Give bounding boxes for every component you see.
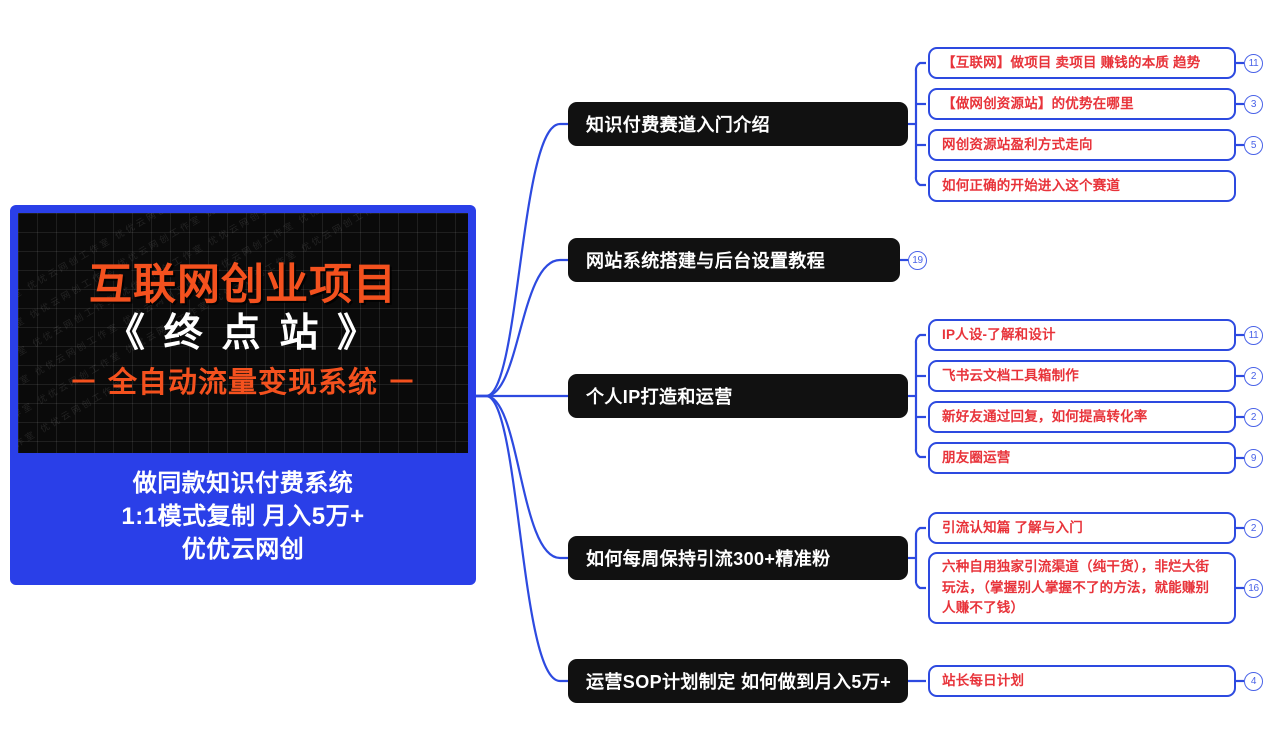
leaf-node[interactable]: 网创资源站盈利方式走向	[928, 129, 1236, 161]
branch-node-sop[interactable]: 运营SOP计划制定 如何做到月入5万+	[568, 659, 908, 703]
root-caption: 做同款知识付费系统 1:1模式复制 月入5万+ 优优云网创	[18, 453, 468, 566]
leaf-node[interactable]: 飞书云文档工具箱制作	[928, 360, 1236, 392]
poster-tagline: － 全自动流量变现系统 －	[69, 363, 417, 404]
root-caption-line-3: 优优云网创	[18, 533, 468, 566]
leaf-badge: 4	[1244, 672, 1263, 691]
root-caption-line-2: 1:1模式复制 月入5万+	[18, 500, 468, 533]
poster-title: 互联网创业项目	[89, 263, 397, 308]
leaf-node[interactable]: 站长每日计划	[928, 665, 1236, 697]
leaf-badge: 3	[1244, 95, 1263, 114]
leaf-node[interactable]: 新好友通过回复，如何提高转化率	[928, 401, 1236, 433]
root-poster-image: 优优云网创工作室 优优云网创工作室 优优云网创工作室 优优云网创工作室 优优云网…	[18, 213, 468, 453]
branch-node-traffic[interactable]: 如何每周保持引流300+精准粉	[568, 536, 908, 580]
poster-subtitle: 《 终 点 站 》	[106, 310, 380, 359]
branch-node-intro[interactable]: 知识付费赛道入门介绍	[568, 102, 908, 146]
leaf-badge: 2	[1244, 367, 1263, 386]
branch-node-website[interactable]: 网站系统搭建与后台设置教程	[568, 238, 900, 282]
mindmap-canvas: 优优云网创工作室 优优云网创工作室 优优云网创工作室 优优云网创工作室 优优云网…	[0, 0, 1278, 750]
leaf-node[interactable]: 朋友圈运营	[928, 442, 1236, 474]
leaf-badge: 2	[1244, 519, 1263, 538]
root-node[interactable]: 优优云网创工作室 优优云网创工作室 优优云网创工作室 优优云网创工作室 优优云网…	[10, 205, 476, 585]
leaf-node[interactable]: 【互联网】做项目 卖项目 赚钱的本质 趋势	[928, 47, 1236, 79]
leaf-badge: 2	[1244, 408, 1263, 427]
branch-node-ip[interactable]: 个人IP打造和运营	[568, 374, 908, 418]
leaf-badge: 9	[1244, 449, 1263, 468]
leaf-node[interactable]: 如何正确的开始进入这个赛道	[928, 170, 1236, 202]
leaf-node[interactable]: 引流认知篇 了解与入门	[928, 512, 1236, 544]
leaf-badge: 16	[1244, 579, 1263, 598]
leaf-badge: 11	[1244, 54, 1263, 73]
leaf-badge: 11	[1244, 326, 1263, 345]
leaf-node[interactable]: IP人设-了解和设计	[928, 319, 1236, 351]
branch-badge-website: 19	[908, 251, 927, 270]
leaf-node[interactable]: 六种自用独家引流渠道（纯干货），非烂大街玩法，（掌握别人掌握不了的方法，就能赚别…	[928, 552, 1236, 624]
root-caption-line-1: 做同款知识付费系统	[18, 467, 468, 500]
leaf-node[interactable]: 【做网创资源站】的优势在哪里	[928, 88, 1236, 120]
leaf-badge: 5	[1244, 136, 1263, 155]
